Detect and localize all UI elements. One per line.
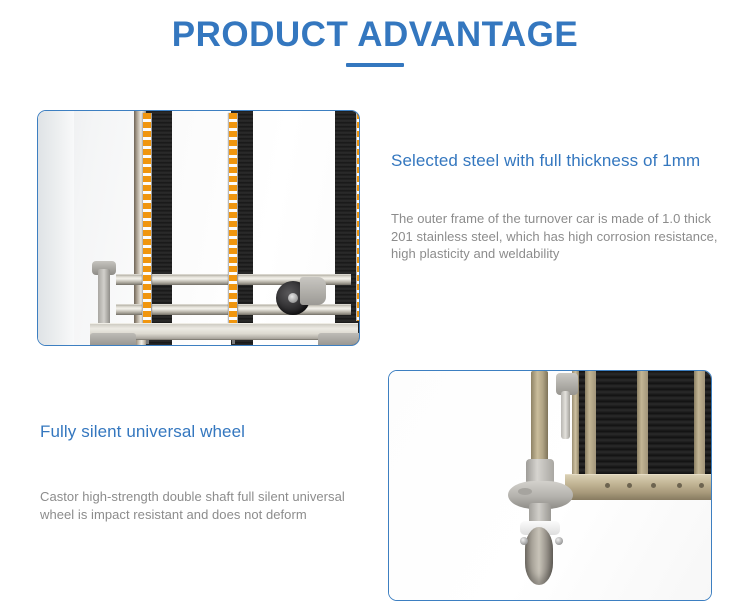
title-underline-divider (346, 63, 404, 67)
feature-image-frame-selected-steel (37, 110, 360, 346)
feature-body-selected-steel: The outer frame of the turnover car is m… (391, 210, 721, 263)
caster-wheel-photo (389, 371, 711, 600)
feature-text-silent-universal-wheel: Fully silent universal wheel Castor high… (40, 421, 370, 523)
feature-text-selected-steel: Selected steel with full thickness of 1m… (391, 150, 721, 263)
feature-body-silent-universal-wheel: Castor high-strength double shaft full s… (40, 488, 370, 523)
feature-image-frame-silent-universal-wheel (388, 370, 712, 601)
feature-heading-silent-universal-wheel: Fully silent universal wheel (40, 421, 370, 442)
feature-heading-selected-steel: Selected steel with full thickness of 1m… (391, 150, 721, 171)
product-advantage-page: PRODUCT ADVANTAGE (0, 0, 750, 616)
turnover-car-frame-photo (38, 111, 359, 345)
page-title: PRODUCT ADVANTAGE (0, 14, 750, 56)
page-header: PRODUCT ADVANTAGE (0, 14, 750, 67)
